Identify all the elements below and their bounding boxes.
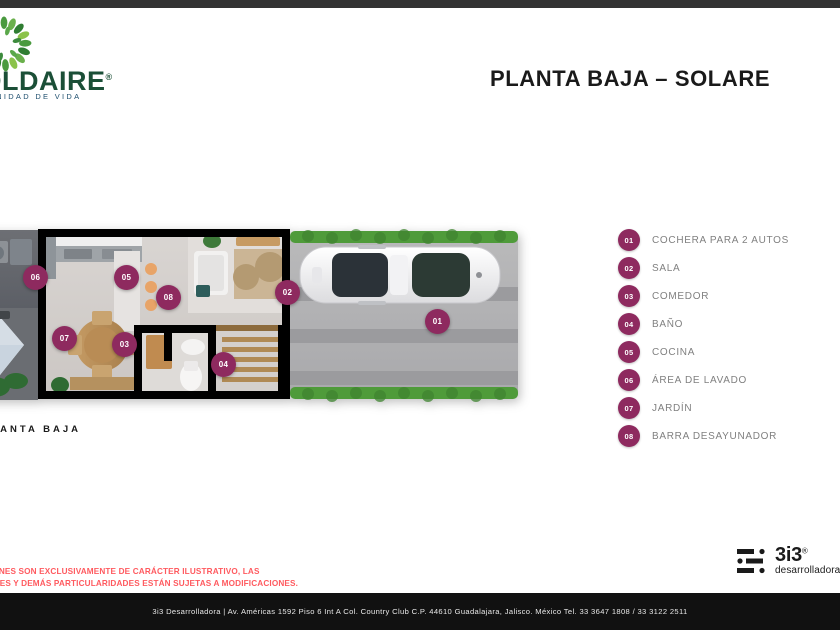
plan-marker-02[interactable]: 02: [275, 280, 300, 305]
page-title: PLANTA BAJA – SOLARE: [490, 66, 770, 92]
plan-marker-07[interactable]: 07: [52, 326, 77, 351]
bars-dots-mark-icon: [737, 548, 767, 574]
developer-logo-subtitle: desarrolladora: [775, 565, 840, 576]
plan-marker-05[interactable]: 05: [114, 265, 139, 290]
plan-marker-03[interactable]: 03: [112, 332, 137, 357]
floor-plan-caption: PLANTA BAJA: [0, 424, 81, 435]
plan-marker-04[interactable]: 04: [211, 352, 236, 377]
legend-badge-03: 03: [618, 285, 640, 307]
legend-badge-06: 06: [618, 369, 640, 391]
legend-label-05: COCINA: [652, 347, 695, 358]
legend-label-03: COMEDOR: [652, 291, 709, 302]
legend-badge-02: 02: [618, 257, 640, 279]
brand-tagline: COMUNIDAD DE VIDA: [0, 92, 81, 101]
legend-label-04: BAÑO: [652, 319, 683, 330]
legend-item-03[interactable]: 03 COMEDOR: [618, 282, 789, 310]
plan-marker-08[interactable]: 08: [156, 285, 181, 310]
legend-badge-07: 07: [618, 397, 640, 419]
slide-canvas: SOLDAIRE® COMUNIDAD DE VIDA PLANTA BAJA …: [0, 0, 840, 630]
legend-list: 01 COCHERA PARA 2 AUTOS 02 SALA 03 COMED…: [618, 226, 789, 450]
legend-label-06: ÁREA DE LAVADO: [652, 375, 747, 386]
legend-item-07[interactable]: 07 JARDÍN: [618, 394, 789, 422]
legend-badge-01: 01: [618, 229, 640, 251]
disclaimer-line-1: LAS IMÁGENES SON EXCLUSIVAMENTE DE CARÁC…: [0, 566, 298, 578]
legend-item-02[interactable]: 02 SALA: [618, 254, 789, 282]
top-accent-bar: [0, 0, 840, 8]
brand-registered-mark: ®: [106, 72, 113, 82]
disclaimer-line-2: DIMENSIONES Y DEMÁS PARTICULARIDADES EST…: [0, 578, 298, 590]
legend-label-08: BARRA DESAYUNADOR: [652, 431, 777, 442]
legend-label-07: JARDÍN: [652, 403, 692, 414]
legend-item-08[interactable]: 08 BARRA DESAYUNADOR: [618, 422, 789, 450]
disclaimer-text: LAS IMÁGENES SON EXCLUSIVAMENTE DE CARÁC…: [0, 566, 298, 590]
legend-item-05[interactable]: 05 COCINA: [618, 338, 789, 366]
developer-logo-name: 3i3®: [775, 544, 808, 567]
footer-contact-text: 3i3 Desarrolladora | Av. Américas 1592 P…: [152, 607, 687, 616]
footer-bar: 3i3 Desarrolladora | Av. Américas 1592 P…: [0, 593, 840, 630]
legend-item-01[interactable]: 01 COCHERA PARA 2 AUTOS: [618, 226, 789, 254]
legend-badge-04: 04: [618, 313, 640, 335]
developer-logo-name-text: 3i3: [775, 544, 802, 566]
legend-item-06[interactable]: 06 ÁREA DE LAVADO: [618, 366, 789, 394]
legend-badge-05: 05: [618, 341, 640, 363]
developer-logo: 3i3® desarrolladora: [737, 546, 840, 580]
plan-marker-01[interactable]: 01: [425, 309, 450, 334]
legend-label-01: COCHERA PARA 2 AUTOS: [652, 235, 789, 246]
legend-label-02: SALA: [652, 263, 680, 274]
brand-logo: SOLDAIRE® COMUNIDAD DE VIDA: [0, 16, 112, 98]
plan-marker-06[interactable]: 06: [23, 265, 48, 290]
green-leaf-wreath-icon: [0, 16, 32, 72]
legend-item-04[interactable]: 04 BAÑO: [618, 310, 789, 338]
legend-badge-08: 08: [618, 425, 640, 447]
developer-registered-mark: ®: [802, 546, 808, 555]
